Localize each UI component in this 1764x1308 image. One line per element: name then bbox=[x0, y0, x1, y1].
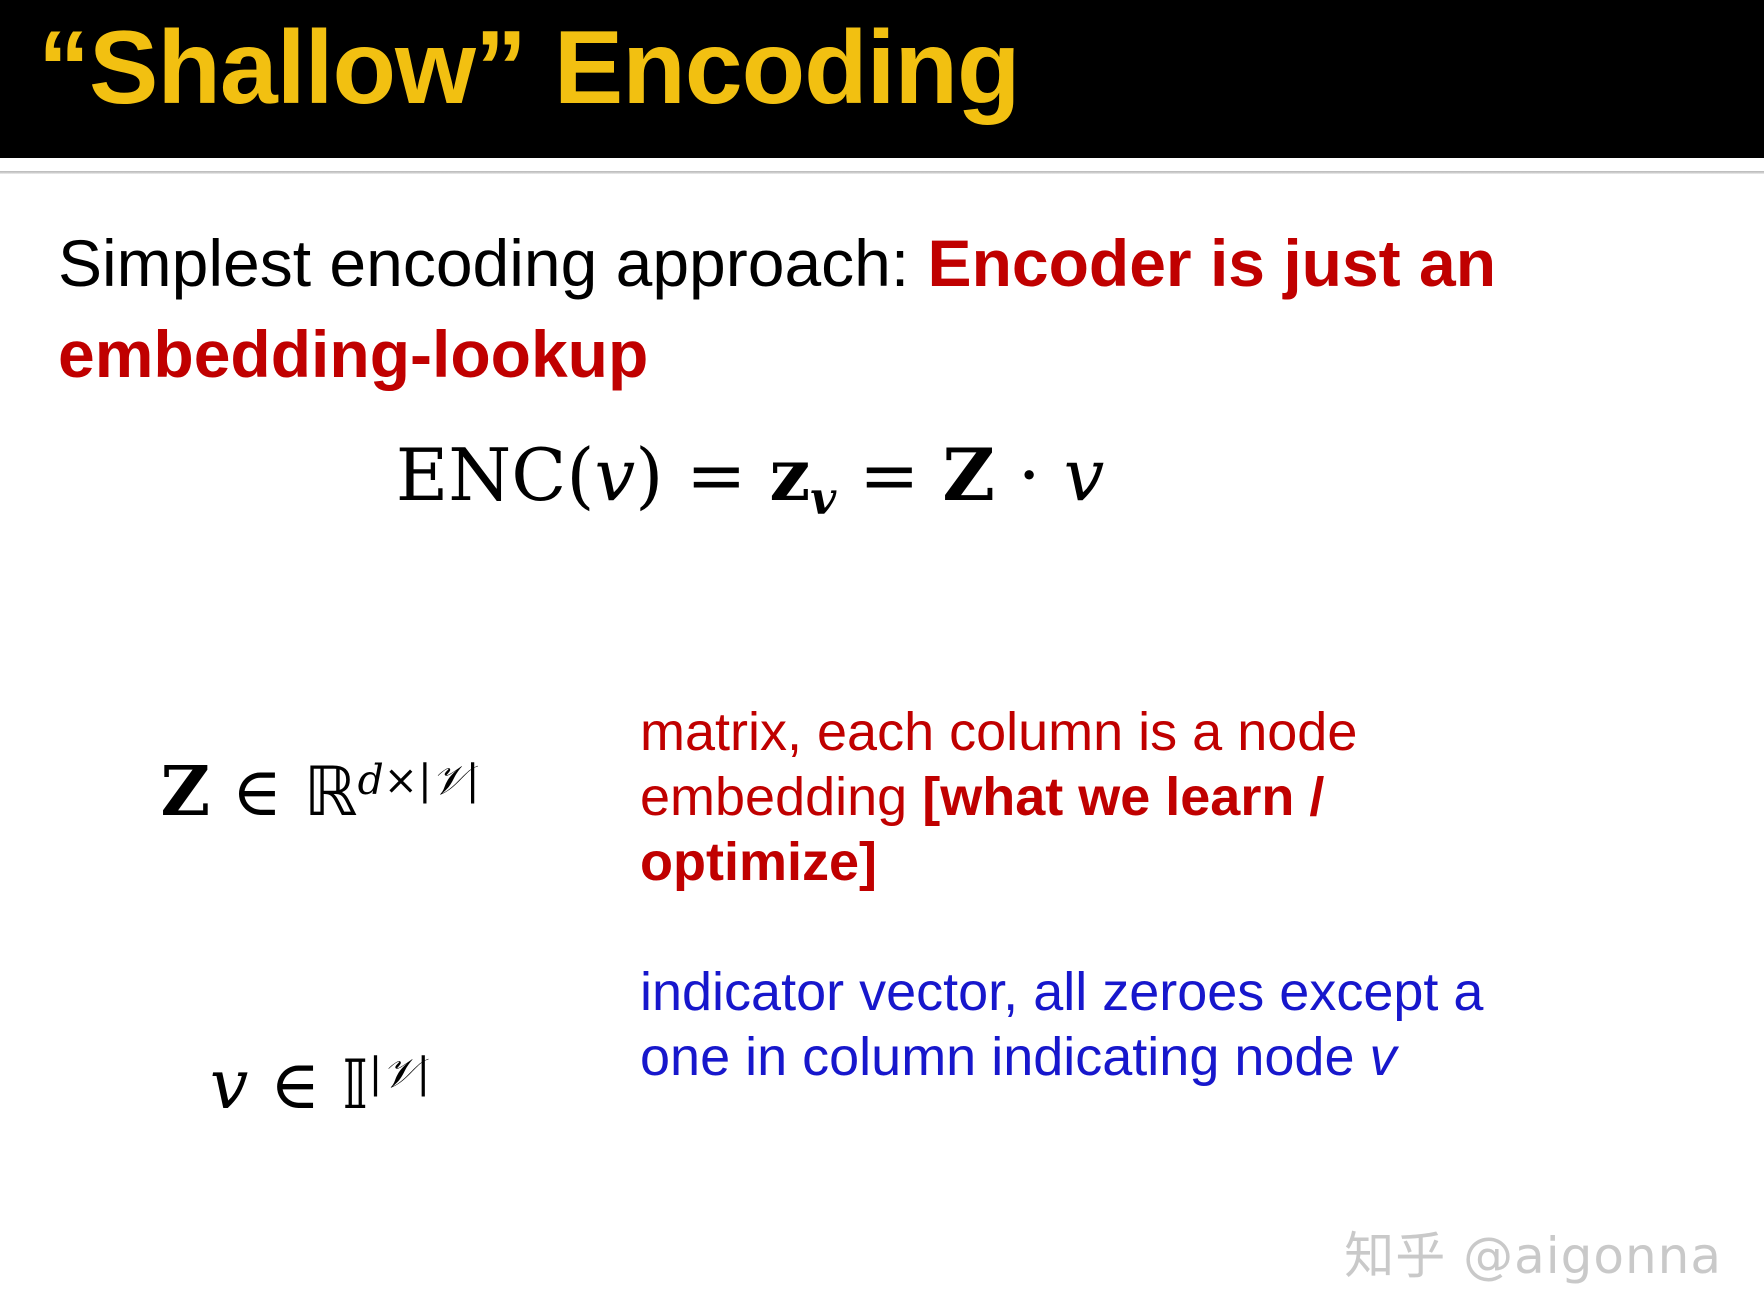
title-divider bbox=[0, 171, 1764, 174]
abs-bar-open: | bbox=[369, 1049, 383, 1097]
annotation-v-plain: indicator vector, all zeroes except a on… bbox=[640, 962, 1483, 1087]
abs-bar-open: | bbox=[418, 756, 432, 804]
element-of-icon: ∈ bbox=[270, 1046, 320, 1125]
annotation-z: matrix, each column is a node embedding … bbox=[640, 700, 1764, 894]
exponent-group: |𝒱| bbox=[369, 1049, 430, 1097]
indicator-set: 𝕀 bbox=[342, 1046, 369, 1125]
indicator-vector-v: v bbox=[1064, 433, 1105, 517]
definition-row-z: Z ∈ ℝd×|𝒱| matrix, each column is a node… bbox=[0, 700, 1764, 894]
exponent-group: d×|𝒱| bbox=[358, 756, 480, 804]
watermark: 知乎 @aigonna bbox=[1344, 1216, 1722, 1288]
symbol-v: v bbox=[210, 1046, 248, 1125]
symbol-expression-z: Z ∈ ℝd×|𝒱| bbox=[0, 700, 640, 832]
close-paren: ) bbox=[635, 433, 663, 517]
enc-argument-v: v bbox=[595, 433, 636, 517]
annotation-v: indicator vector, all zeroes except a on… bbox=[640, 960, 1764, 1090]
symbol-z: Z bbox=[161, 752, 211, 832]
intro-paragraph: Simplest encoding approach: Encoder is j… bbox=[58, 218, 1538, 400]
equals-sign-2: = bbox=[859, 433, 919, 517]
vertex-set-symbol: 𝒱 bbox=[382, 1049, 416, 1097]
z-subscript-v: v bbox=[810, 471, 836, 524]
element-of-icon: ∈ bbox=[232, 753, 282, 832]
main-equation: ENC(v) = zv = Z · v bbox=[0, 432, 1500, 524]
definition-row-v: v ∈ 𝕀|𝒱| indicator vector, all zeroes ex… bbox=[0, 960, 1764, 1125]
vertex-set-symbol: 𝒱 bbox=[432, 756, 466, 804]
z-matrix: Z bbox=[942, 432, 995, 517]
z-embedding-vector: z bbox=[769, 432, 810, 517]
exponent-d: d bbox=[358, 756, 384, 804]
abs-bar-close: | bbox=[416, 1049, 430, 1097]
title-banner: “Shallow” Encoding bbox=[0, 0, 1764, 158]
abs-bar-close: | bbox=[466, 756, 480, 804]
times-icon: × bbox=[384, 756, 418, 804]
open-paren: ( bbox=[566, 433, 594, 517]
dot-operator: · bbox=[1018, 433, 1041, 517]
real-numbers-set: ℝ bbox=[304, 753, 358, 832]
equals-sign-1: = bbox=[686, 433, 746, 517]
intro-plain-text: Simplest encoding approach: bbox=[58, 226, 928, 300]
enc-function-name: ENC bbox=[396, 433, 567, 517]
page-title: “Shallow” Encoding bbox=[38, 4, 1020, 133]
symbol-expression-v: v ∈ 𝕀|𝒱| bbox=[0, 960, 640, 1125]
annotation-v-italic: v bbox=[1370, 1027, 1397, 1087]
